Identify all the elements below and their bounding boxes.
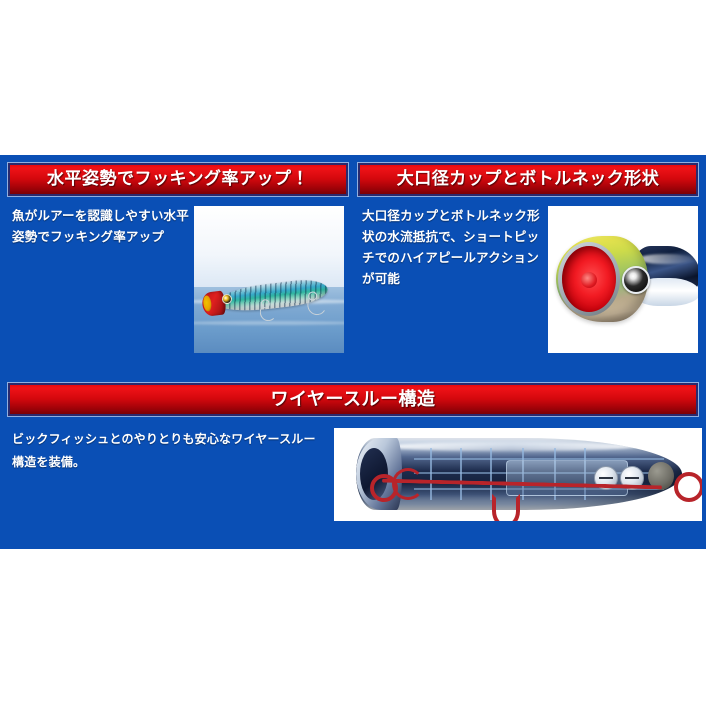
internal-rib	[490, 448, 492, 500]
front-wire-loop	[370, 474, 398, 502]
panel-header-label: 水平姿勢でフッキング率アップ！	[16, 169, 340, 189]
shell-highlight	[386, 442, 636, 451]
panel-large-cup: 大口径カップとボトルネック形状 大口径カップとボトルネック形状の水流抵抗で、ショ…	[358, 163, 698, 353]
wire-through-cutaway-diagram	[334, 428, 702, 521]
panel-description-horizontal-posture: 魚がルアーを認識しやすい水平姿勢でフッキング率アップ	[8, 206, 190, 248]
popper-lure-on-water-photo	[194, 206, 344, 353]
letterbox-top	[0, 0, 706, 155]
lure-cup-closeup-photo	[548, 206, 698, 353]
feature-stage: 水平姿勢でフッキング率アップ！ 魚がルアーを認識しやすい水平姿勢でフッキング率ア…	[0, 155, 706, 549]
belly-hanger-loop	[492, 494, 520, 521]
weight-slot	[625, 477, 639, 479]
panel-header-large-cup: 大口径カップとボトルネック形状	[358, 163, 698, 196]
body-highlight	[638, 254, 694, 264]
lure-eye	[622, 266, 650, 294]
internal-rib	[430, 448, 432, 500]
panel-horizontal-posture: 水平姿勢でフッキング率アップ！ 魚がルアーを認識しやすい水平姿勢でフッキング率ア…	[8, 163, 348, 353]
page-root: 水平姿勢でフッキング率アップ！ 魚がルアーを認識しやすい水平姿勢でフッキング率ア…	[0, 0, 706, 706]
internal-rib	[460, 448, 462, 500]
panel-body-horizontal-posture: 魚がルアーを認識しやすい水平姿勢でフッキング率アップ	[8, 196, 348, 353]
panel-header-wire-through: ワイヤースルー構造	[8, 383, 698, 416]
letterbox-bottom	[0, 549, 706, 706]
panel-header-label: 大口径カップとボトルネック形状	[366, 169, 690, 189]
panel-wire-through: ワイヤースルー構造 ビックフィッシュとのやりとりも安心なワイヤースルー構造を装備…	[8, 383, 698, 521]
panel-body-large-cup: 大口径カップとボトルネック形状の水流抵抗で、ショートピッチでのハイアピールアクシ…	[358, 196, 698, 353]
lure-cutaway	[356, 438, 682, 510]
panel-header-label: ワイヤースルー構造	[16, 389, 690, 409]
panel-description-wire-through: ビックフィッシュとのやりとりも安心なワイヤースルー構造を装備。	[8, 428, 322, 474]
cup-interior	[562, 246, 616, 312]
rear-wire-loop	[674, 472, 702, 502]
panel-body-wire-through: ビックフィッシュとのやりとりも安心なワイヤースルー構造を装備。	[8, 416, 698, 521]
panel-header-horizontal-posture: 水平姿勢でフッキング率アップ！	[8, 163, 348, 196]
lure-head-closeup	[556, 236, 694, 322]
weight-slot	[599, 477, 613, 479]
cup-center-highlight	[581, 272, 597, 288]
panel-description-large-cup: 大口径カップとボトルネック形状の水流抵抗で、ショートピッチでのハイアピールアクシ…	[358, 206, 544, 290]
